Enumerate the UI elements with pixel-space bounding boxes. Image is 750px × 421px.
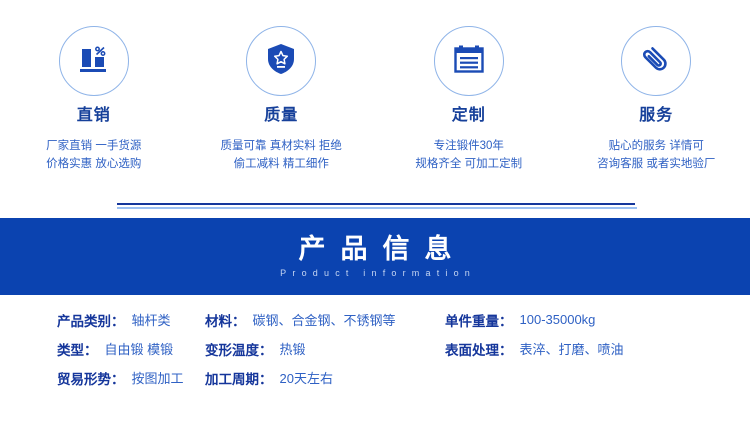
feature-icon-circle bbox=[434, 26, 504, 96]
product-info-page: 直销 厂家直销 一手货源 价格实惠 放心选购 质量 质量可靠 真材实料 拒绝 偷… bbox=[0, 0, 750, 421]
banner-title-en: Product information bbox=[274, 269, 476, 278]
feature-icon-circle bbox=[59, 26, 129, 96]
divider-line-light bbox=[117, 207, 637, 209]
spec-label: 单件重量： bbox=[445, 310, 513, 330]
feature-title: 定制 bbox=[452, 108, 486, 124]
spec-value: 自由锻 模锻 bbox=[105, 339, 174, 358]
spec-label: 表面处理： bbox=[445, 339, 513, 359]
spec-value: 20天左右 bbox=[280, 368, 333, 387]
spec-column-1: 产品类别： 轴杆类 类型： 自由锻 模锻 贸易形势： 按图加工 bbox=[0, 305, 205, 405]
feature-title: 服务 bbox=[639, 108, 673, 124]
spec-label: 类型： bbox=[57, 339, 98, 359]
clipboard-icon bbox=[452, 42, 486, 81]
feature-item-quality: 质量 质量可靠 真材实料 拒绝 偷工减料 精工细作 bbox=[188, 0, 376, 196]
section-banner: 产品信息 Product information bbox=[0, 218, 750, 295]
spec-column-3: 单件重量： 100-35000kg 表面处理： 表淬、打磨、喷油 bbox=[445, 305, 750, 405]
spec-label: 加工周期： bbox=[205, 368, 273, 388]
spec-row: 表面处理： 表淬、打磨、喷油 bbox=[445, 334, 750, 363]
feature-description: 质量可靠 真材实料 拒绝 偷工减料 精工细作 bbox=[221, 138, 342, 174]
feature-icon-circle bbox=[621, 26, 691, 96]
spec-row: 加工周期： 20天左右 bbox=[205, 363, 445, 392]
spec-value: 轴杆类 bbox=[132, 310, 171, 329]
spec-column-2: 材料： 碳钢、合金钢、不锈钢等 变形温度： 热锻 加工周期： 20天左右 bbox=[205, 305, 445, 405]
feature-item-direct-sales: 直销 厂家直销 一手货源 价格实惠 放心选购 bbox=[0, 0, 188, 196]
feature-title: 质量 bbox=[264, 108, 298, 124]
decorative-divider bbox=[117, 203, 637, 211]
feature-description: 专注锻件30年 规格齐全 可加工定制 bbox=[415, 138, 522, 174]
feature-icon-circle bbox=[246, 26, 316, 96]
feature-description: 贴心的服务 详情可 咨询客服 或者实地验厂 bbox=[597, 138, 715, 174]
spec-value: 100-35000kg bbox=[520, 312, 596, 327]
spec-label: 贸易形势： bbox=[57, 368, 125, 388]
spec-value: 表淬、打磨、喷油 bbox=[520, 339, 624, 358]
bar-chart-percent-icon bbox=[77, 43, 111, 80]
feature-item-customization: 定制 专注锻件30年 规格齐全 可加工定制 bbox=[375, 0, 563, 196]
spec-label: 材料： bbox=[205, 310, 246, 330]
features-section: 直销 厂家直销 一手货源 价格实惠 放心选购 质量 质量可靠 真材实料 拒绝 偷… bbox=[0, 0, 750, 196]
spec-row: 贸易形势： 按图加工 bbox=[57, 363, 205, 392]
feature-description: 厂家直销 一手货源 价格实惠 放心选购 bbox=[46, 138, 141, 174]
spec-value: 碳钢、合金钢、不锈钢等 bbox=[253, 310, 396, 329]
spec-row: 单件重量： 100-35000kg bbox=[445, 305, 750, 334]
spec-label: 产品类别： bbox=[57, 310, 125, 330]
feature-item-service: 服务 贴心的服务 详情可 咨询客服 或者实地验厂 bbox=[563, 0, 750, 196]
banner-title-cn: 产品信息 bbox=[284, 235, 467, 263]
spec-value: 热锻 bbox=[280, 339, 306, 358]
spec-value: 按图加工 bbox=[132, 368, 184, 387]
shield-star-icon bbox=[265, 42, 297, 81]
paperclip-icon bbox=[638, 41, 674, 82]
spec-label: 变形温度： bbox=[205, 339, 273, 359]
spec-row: 类型： 自由锻 模锻 bbox=[57, 334, 205, 363]
feature-title: 直销 bbox=[77, 108, 111, 124]
divider-line-dark bbox=[117, 203, 635, 205]
spec-table: 产品类别： 轴杆类 类型： 自由锻 模锻 贸易形势： 按图加工 材料： 碳钢、合… bbox=[0, 305, 750, 405]
spec-row: 产品类别： 轴杆类 bbox=[57, 305, 205, 334]
spec-row: 变形温度： 热锻 bbox=[205, 334, 445, 363]
spec-row: 材料： 碳钢、合金钢、不锈钢等 bbox=[205, 305, 445, 334]
